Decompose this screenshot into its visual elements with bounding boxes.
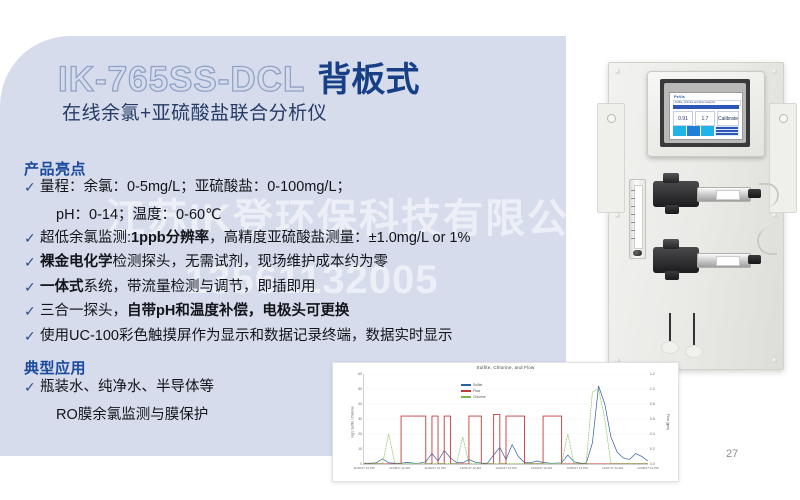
page-title: IK-765SS-DCL背板式 bbox=[58, 52, 419, 101]
list-item-label: 一体式系统，带流量检测与调节，即插即用 bbox=[40, 278, 316, 298]
legend-swatch-icon bbox=[461, 396, 471, 398]
hmi-button-3[interactable] bbox=[701, 126, 714, 136]
text-bold: 自带pH和温度补偿，电极头可更换 bbox=[127, 303, 349, 319]
list-item: ✓ 三合一探头，自带pH和温度补偿，电极头可更换 bbox=[24, 302, 544, 322]
drain-fitting bbox=[685, 345, 703, 358]
chart-x-tick: 12/02/17 12 PM bbox=[495, 466, 516, 470]
screw-icon bbox=[615, 213, 620, 218]
controller-enclosure: PxVis Sulfite, Chlorine and Flow Analyze… bbox=[647, 71, 765, 157]
hmi-button-row bbox=[673, 126, 739, 136]
chart-y2-axis-label: Flow (gpm) bbox=[666, 414, 670, 430]
product-model-suffix: 背板式 bbox=[317, 61, 419, 99]
legend-label: Chlorine bbox=[473, 395, 486, 399]
check-icon: ✓ bbox=[24, 327, 40, 346]
check-icon: ✓ bbox=[24, 253, 40, 272]
chart-y2-tick: 1.2 bbox=[650, 372, 655, 376]
hmi-calibrate-button[interactable]: Calibrate bbox=[717, 111, 739, 126]
list-item: ✓ 裸金电化学检测探头，无需试剂，现场维护成本约为零 bbox=[24, 253, 544, 273]
chart-x-tick: 12/07/17 12 AM bbox=[602, 466, 623, 470]
chart-plot-area: 01020304050600.00.20.40.60.81.01.211/26/… bbox=[363, 374, 648, 465]
rotameter-tube bbox=[634, 185, 643, 249]
list-item: ✓ 使用UC-100彩色触摸屏作为显示和数据记录终端，数据实时显示 bbox=[24, 327, 544, 347]
chart-legend-item: Chlorine bbox=[461, 395, 486, 399]
legend-label: Flow bbox=[473, 389, 480, 393]
hmi-reading-sulfite[interactable]: 0.91 bbox=[673, 111, 693, 126]
chart-legend-item: Sulfite bbox=[461, 383, 486, 387]
list-item-label: 裸金电化学检测探头，无需试剂，现场维护成本约为零 bbox=[40, 253, 388, 273]
flow-adjust-knob[interactable] bbox=[633, 250, 642, 256]
chart-legend: SulfiteFlowChlorine bbox=[461, 383, 486, 401]
chart-y2-tick: 0.6 bbox=[650, 417, 655, 421]
list-item-label: 瓶装水、纯净水、半导体等 bbox=[40, 378, 214, 398]
legend-swatch-icon bbox=[461, 384, 471, 386]
chart-y-tick: 50 bbox=[358, 387, 362, 391]
enclosure-window: PxVis Sulfite, Chlorine and Flow Analyze… bbox=[660, 79, 750, 147]
chart-y-axis-label: mg/L Sulfite / Chlorine bbox=[351, 406, 355, 437]
legend-label: Sulfite bbox=[473, 383, 482, 387]
flow-meter bbox=[629, 179, 646, 259]
tee-fitting bbox=[653, 247, 699, 273]
bracket-hole bbox=[779, 114, 788, 123]
touchscreen-display[interactable]: PxVis Sulfite, Chlorine and Flow Analyze… bbox=[669, 92, 743, 140]
bracket-hole bbox=[607, 114, 616, 123]
list-item-label: 超低余氯监测:1ppb分辨率，高精度亚硫酸盐测量：±1.0mg/L or 1% bbox=[40, 229, 470, 249]
screw-icon bbox=[772, 69, 777, 74]
chart-x-tick: 12/04/17 12 AM bbox=[531, 466, 552, 470]
check-icon: ✓ bbox=[24, 278, 40, 297]
mounting-bracket-left bbox=[597, 103, 625, 213]
list-item-label: 三合一探头，自带pH和温度补偿，电极头可更换 bbox=[40, 302, 349, 322]
hmi-reading-chlorine[interactable]: 1.7 bbox=[695, 111, 715, 126]
text-prefix: 三合一探头， bbox=[40, 303, 127, 319]
check-icon: ✓ bbox=[24, 229, 40, 248]
page-subtitle: 在线余氯+亚硫酸盐联合分析仪 bbox=[62, 98, 327, 125]
screw-icon bbox=[772, 358, 777, 363]
chart-y-tick: 20 bbox=[358, 432, 362, 436]
cable-connector bbox=[748, 255, 761, 264]
check-icon: ✓ bbox=[24, 178, 40, 197]
chart-y2-tick: 1.0 bbox=[650, 387, 655, 391]
drain-tube bbox=[693, 313, 695, 347]
highlights-list: ✓ 量程：余氯：0-5mg/L；亚硫酸盐：0-100mg/L； pH：0-14；… bbox=[24, 178, 544, 351]
chart-x-tick: 11/29/17 12 PM bbox=[425, 466, 446, 470]
probe-label bbox=[716, 190, 740, 200]
slide: 江苏IK登环保科技有限公司 13561132005 IK-765SS-DCL背板… bbox=[0, 0, 800, 500]
chart-title: Sulfite, Chlorine, and Flow bbox=[333, 365, 678, 370]
list-item: ✓ 超低余氯监测:1ppb分辨率，高精度亚硫酸盐测量：±1.0mg/L or 1… bbox=[24, 229, 544, 249]
chart-y2-tick: 0.8 bbox=[650, 402, 655, 406]
section-heading-highlights: 产品亮点 bbox=[24, 158, 86, 179]
product-model: IK-765SS-DCL bbox=[58, 60, 305, 99]
screw-icon bbox=[772, 213, 777, 218]
instrument-photo: PxVis Sulfite, Chlorine and Flow Analyze… bbox=[600, 48, 790, 378]
chart-y-tick: 10 bbox=[358, 447, 362, 451]
text-bold: 1ppb分辨率 bbox=[131, 230, 209, 246]
screw-icon bbox=[615, 69, 620, 74]
hmi-button-1[interactable] bbox=[673, 126, 686, 136]
check-icon: ✓ bbox=[24, 302, 40, 321]
list-item: ✓ 一体式系统，带流量检测与调节，即插即用 bbox=[24, 278, 544, 298]
drain-fitting bbox=[661, 341, 679, 354]
text-suffix: ，高精度亚硫酸盐测量：±1.0mg/L or 1% bbox=[209, 230, 470, 246]
chart-y-tick: 30 bbox=[358, 417, 362, 421]
page-number: 27 bbox=[726, 448, 738, 460]
check-icon: ✓ bbox=[24, 378, 40, 397]
section-heading-applications: 典型应用 bbox=[24, 357, 86, 378]
chart-legend-item: Flow bbox=[461, 389, 486, 393]
chart-y2-tick: 0.2 bbox=[650, 447, 655, 451]
legend-swatch-icon bbox=[461, 390, 471, 392]
text-bold: 一体式 bbox=[40, 279, 84, 295]
sensor-probe-body bbox=[697, 187, 751, 202]
text-suffix: 系统，带流量检测与调节，即插即用 bbox=[84, 279, 316, 295]
chart-y-tick: 60 bbox=[358, 372, 362, 376]
trend-chart[interactable]: Sulfite, Chlorine, and Flow mg/L Sulfite… bbox=[332, 362, 679, 482]
chart-y-tick: 40 bbox=[358, 402, 362, 406]
chart-y2-tick: 0.4 bbox=[650, 432, 655, 436]
drain-tube bbox=[669, 313, 671, 343]
text-prefix: 超低余氯监测: bbox=[40, 230, 131, 246]
sensor-cable bbox=[757, 227, 777, 255]
list-item: ✓ 量程：余氯：0-5mg/L；亚硫酸盐：0-100mg/L； bbox=[24, 178, 544, 198]
chart-x-tick: 12/08/17 12 PM bbox=[637, 466, 658, 470]
tee-fitting bbox=[653, 181, 699, 207]
chart-x-tick: 11/26/17 12 PM bbox=[354, 466, 375, 470]
chart-x-tick: 12/05/17 12 PM bbox=[566, 466, 587, 470]
hmi-brand-label: PxVis bbox=[674, 94, 685, 99]
chart-svg bbox=[364, 374, 648, 464]
hmi-info-panel bbox=[715, 126, 739, 136]
list-item-label: 量程：余氯：0-5mg/L；亚硫酸盐：0-100mg/L； bbox=[40, 178, 351, 198]
text-suffix: 检测探头，无需试剂，现场维护成本约为零 bbox=[113, 254, 389, 270]
sensor-probe-body bbox=[697, 253, 751, 268]
chart-x-tick: 12/01/17 12 AM bbox=[460, 466, 481, 470]
backplate: PxVis Sulfite, Chlorine and Flow Analyze… bbox=[608, 62, 784, 370]
hmi-button-2[interactable] bbox=[687, 126, 700, 136]
screen-bezel: PxVis Sulfite, Chlorine and Flow Analyze… bbox=[664, 83, 746, 143]
hmi-reading-cells: 0.91 1.7 Calibrate bbox=[673, 111, 739, 126]
probe-label bbox=[716, 256, 740, 266]
text-bold: 裸金电化学 bbox=[40, 254, 113, 270]
list-item-sub: pH：0-14；温度：0-60℃ bbox=[56, 203, 544, 224]
hmi-accent-bar bbox=[673, 105, 739, 109]
hmi-title-text: Sulfite, Chlorine and Flow Analyzer bbox=[675, 101, 715, 104]
chart-x-tick: 11/28/17 12 AM bbox=[389, 466, 410, 470]
list-item-label: 使用UC-100彩色触摸屏作为显示和数据记录终端，数据实时显示 bbox=[40, 327, 452, 347]
